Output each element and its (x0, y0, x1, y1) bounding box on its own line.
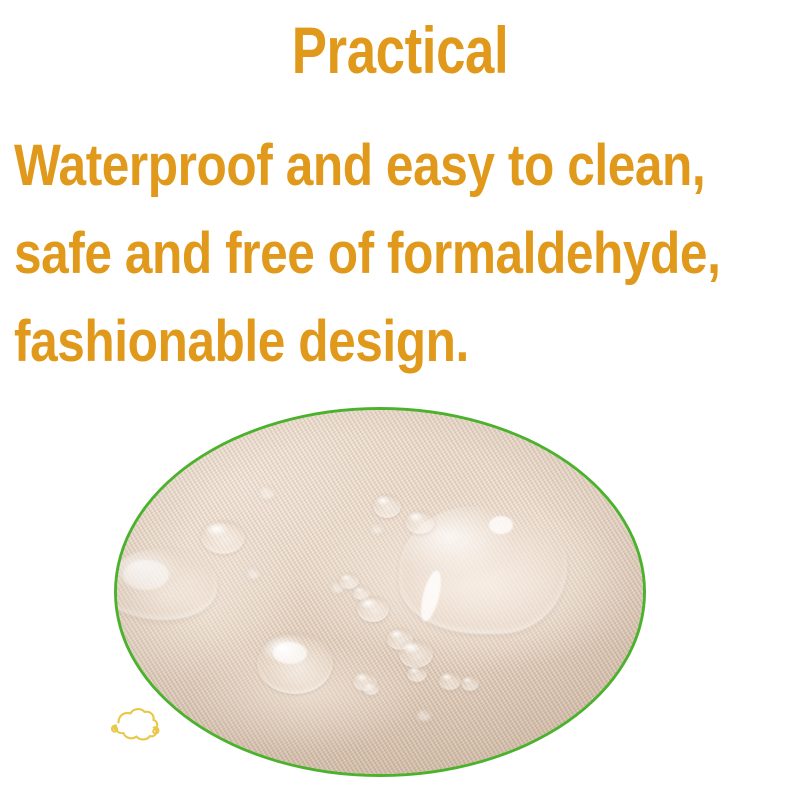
feature-line-1: Waterproof and easy to clean, (14, 122, 689, 210)
fabric-vignette (114, 407, 646, 777)
cloud-icon-svg (106, 701, 160, 747)
fabric-photo-oval (114, 407, 646, 777)
product-photo (114, 407, 646, 777)
feature-description: Waterproof and easy to clean, safe and f… (14, 122, 800, 386)
cloud-icon (106, 701, 160, 747)
feature-line-2: safe and free of formaldehyde, (14, 210, 689, 298)
product-feature-slide: Practical Waterproof and easy to clean, … (0, 0, 800, 800)
feature-line-3: fashionable design. (14, 298, 689, 386)
page-title: Practical (80, 14, 720, 86)
